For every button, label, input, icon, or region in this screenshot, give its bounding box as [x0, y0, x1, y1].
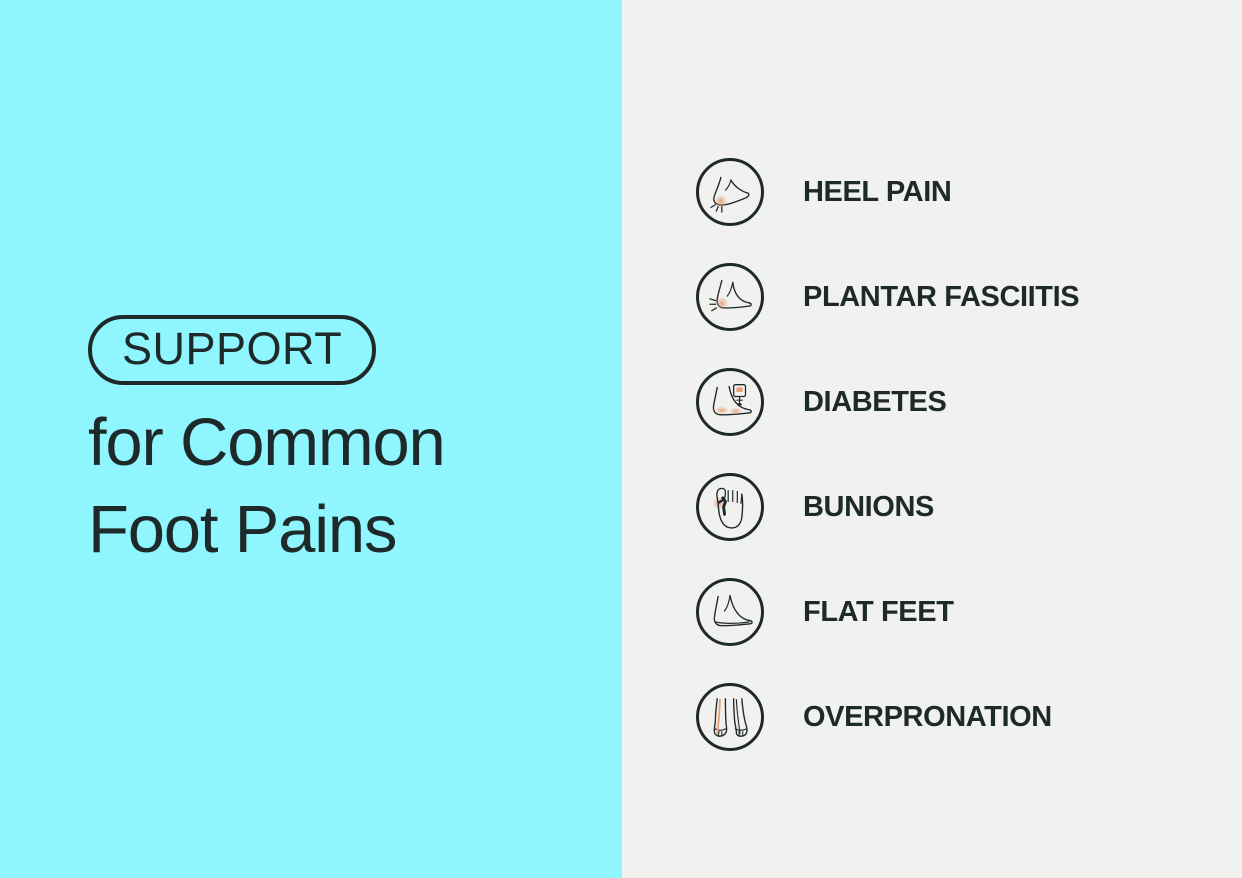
list-item: PLANTAR FASCIITIS — [696, 263, 1079, 331]
hero-block: SUPPORT for Common Foot Pains — [88, 315, 588, 573]
foot-diabetes-meter-icon — [696, 368, 764, 436]
list-item: FLAT FEET — [696, 578, 1079, 646]
conditions-list: HEEL PAIN — [696, 158, 1079, 751]
foot-plantar-fasciitis-icon — [696, 263, 764, 331]
ankles-overpronation-icon — [696, 683, 764, 751]
list-item: BUNIONS — [696, 473, 1079, 541]
support-badge: SUPPORT — [88, 315, 376, 385]
list-item: HEEL PAIN — [696, 158, 1079, 226]
headline-line-2: Foot Pains — [88, 486, 588, 573]
foot-flat-arch-icon — [696, 578, 764, 646]
list-item-label: DIABETES — [803, 388, 946, 417]
left-panel: SUPPORT for Common Foot Pains — [0, 0, 622, 878]
foot-bunion-topdown-icon — [696, 473, 764, 541]
promo-graphic: SUPPORT for Common Foot Pains — [0, 0, 1242, 878]
page-title: for Common Foot Pains — [88, 399, 588, 573]
list-item-label: HEEL PAIN — [803, 178, 951, 207]
list-item: OVERPRONATION — [696, 683, 1079, 751]
foot-heel-pain-icon — [696, 158, 764, 226]
list-item-label: BUNIONS — [803, 493, 934, 522]
list-item-label: PLANTAR FASCIITIS — [803, 283, 1079, 312]
list-item-label: FLAT FEET — [803, 598, 954, 627]
support-badge-label: SUPPORT — [122, 326, 342, 371]
right-panel: HEEL PAIN — [622, 0, 1242, 878]
list-item-label: OVERPRONATION — [803, 703, 1052, 732]
headline-line-1: for Common — [88, 399, 588, 486]
list-item: DIABETES — [696, 368, 1079, 436]
